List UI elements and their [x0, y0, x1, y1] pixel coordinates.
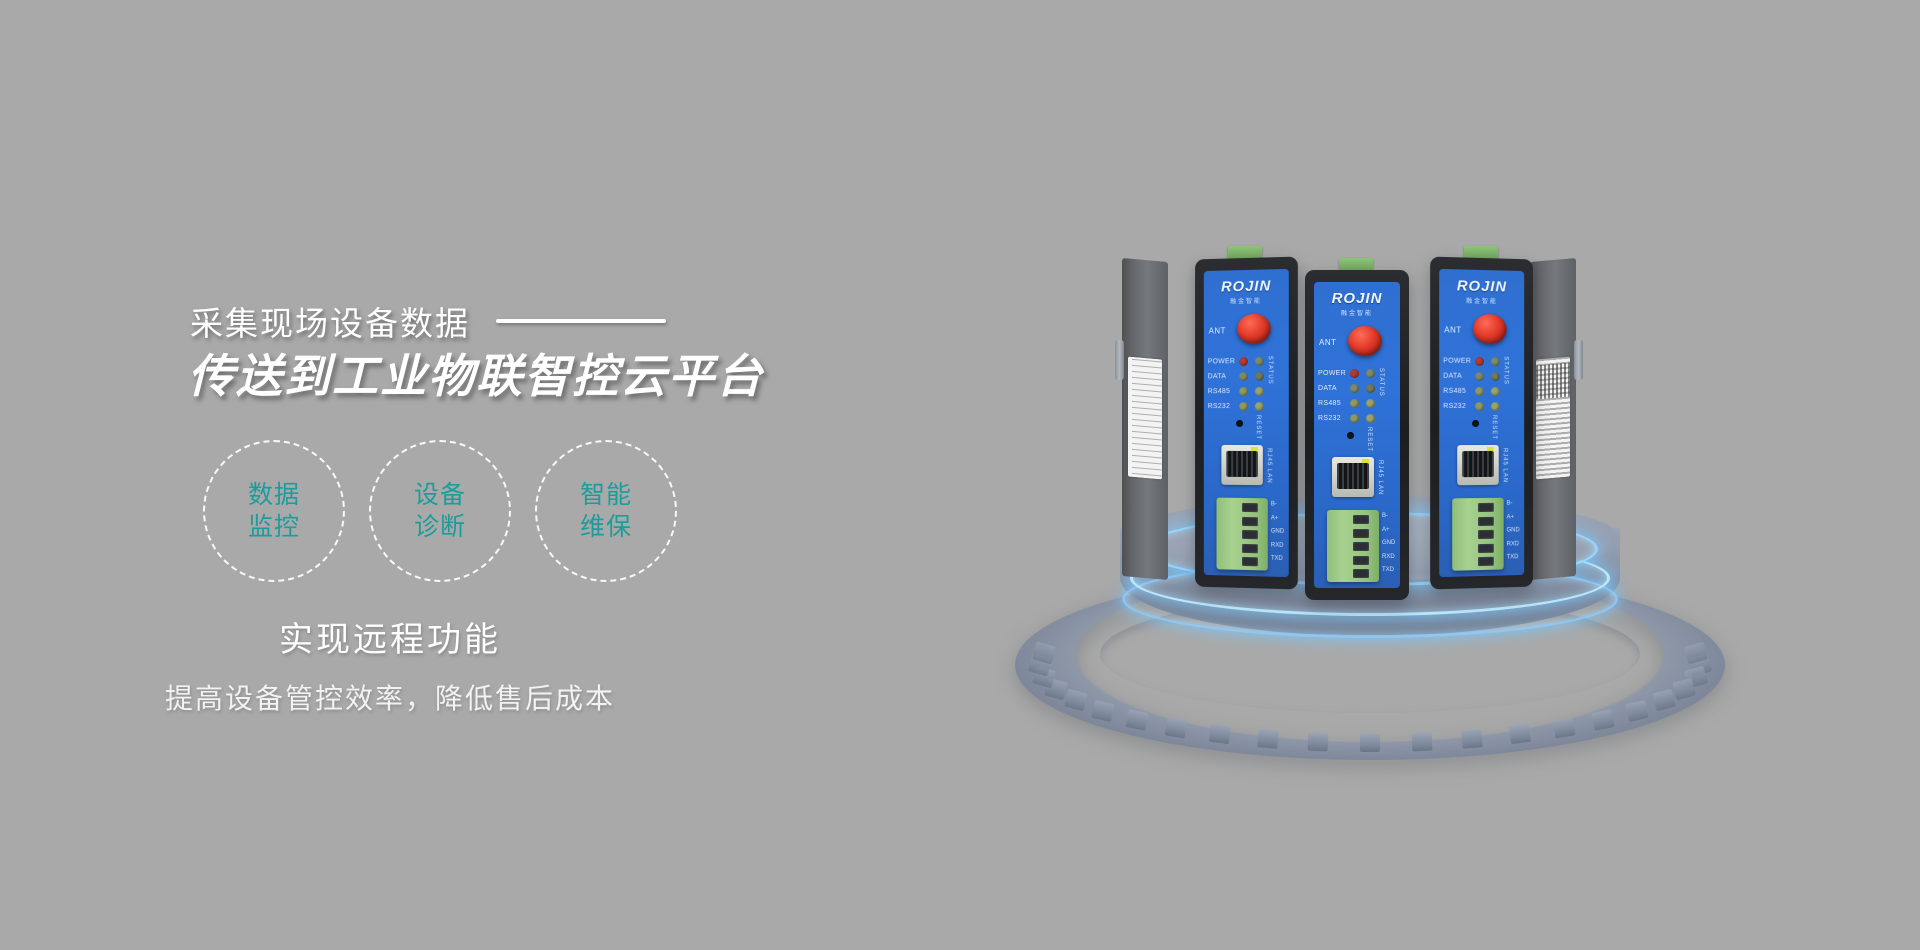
- antenna-label: ANT: [1209, 326, 1226, 335]
- led-row-rs232: RS232: [1318, 413, 1396, 426]
- feature-label-line2: 监控: [248, 511, 300, 543]
- terminal-pin-label: GND: [1271, 528, 1284, 534]
- din-rail-clip: [1115, 340, 1124, 380]
- screw-terminal-block[interactable]: [1217, 498, 1268, 571]
- terminal-pin-label: GND: [1507, 527, 1520, 533]
- screw-terminal-block[interactable]: [1327, 510, 1379, 582]
- gear-tooth: [1308, 733, 1329, 752]
- terminal-screw: [1353, 556, 1369, 565]
- brand-logo: ROJIN: [1204, 277, 1289, 296]
- reset-button[interactable]: [1347, 432, 1354, 439]
- led-indicator: [1350, 399, 1359, 408]
- terminal-pin-label: B-: [1507, 501, 1513, 507]
- led-indicator: [1350, 369, 1359, 378]
- gear-tooth: [1592, 709, 1615, 731]
- terminal-pin-label: B-: [1271, 501, 1277, 507]
- gear-tooth: [1064, 689, 1088, 711]
- led-indicator: [1366, 399, 1375, 408]
- led-row-rs232: RS232: [1208, 401, 1285, 414]
- gear-tooth: [1672, 678, 1696, 701]
- terminal-pin-label: TXD: [1382, 567, 1394, 573]
- kicker-row: 采集现场设备数据: [190, 297, 666, 345]
- led-indicator: [1366, 414, 1375, 423]
- led-label: POWER: [1208, 358, 1235, 365]
- gear-tooth: [1209, 724, 1231, 744]
- kicker-text: 采集现场设备数据: [190, 297, 470, 345]
- subheading: 实现远程功能: [0, 612, 780, 661]
- gear-tooth: [1091, 700, 1115, 722]
- feature-circle-data-monitoring[interactable]: 数据 监控: [203, 440, 345, 582]
- feature-label-line1: 设备: [414, 479, 466, 511]
- gear-tooth: [1125, 709, 1148, 731]
- gear-tooth: [1553, 718, 1576, 739]
- led-row-rs485: RS485: [1208, 386, 1285, 399]
- feature-label-line1: 数据: [248, 479, 300, 511]
- led-label: RS232: [1208, 403, 1230, 410]
- terminal-pin-label: B-: [1382, 513, 1388, 519]
- terminal-pin-label: RXD: [1382, 554, 1395, 560]
- feature-circle-list: 数据 监控 设备 诊断 智能 维保: [203, 440, 677, 582]
- antenna-connector[interactable]: [1237, 314, 1271, 345]
- device-spec-label: [1128, 357, 1162, 480]
- led-indicator: [1255, 387, 1264, 396]
- terminal-screw: [1242, 530, 1258, 539]
- gear-tooth: [1652, 689, 1676, 711]
- reset-button[interactable]: [1236, 420, 1243, 427]
- terminal-pin-label: TXD: [1507, 554, 1519, 560]
- led-label: DATA: [1208, 373, 1226, 380]
- gear-tooth: [1461, 729, 1482, 749]
- terminal-pin-label: A+: [1382, 527, 1390, 533]
- terminal-screw: [1353, 529, 1369, 538]
- device-group: ROJIN融金智能ANTSTATUSRESETRJ45 LANPOWERDATA…: [1130, 240, 1650, 600]
- terminal-screw: [1353, 542, 1369, 551]
- rj45-port[interactable]: [1332, 457, 1374, 497]
- led-row-power: POWER: [1318, 368, 1396, 381]
- brand-logo-cn: 融金智能: [1314, 308, 1400, 317]
- reset-label: RESET: [1255, 415, 1261, 440]
- led-label: RS232: [1318, 415, 1341, 422]
- lan-label: RJ45 LAN: [1502, 448, 1508, 483]
- led-indicator: [1366, 369, 1375, 378]
- terminal-pin-label: A+: [1507, 514, 1514, 520]
- led-indicator: [1255, 372, 1264, 381]
- terminal-pin-label: GND: [1382, 540, 1395, 546]
- terminal-screw: [1242, 543, 1258, 552]
- gear-tooth: [1257, 729, 1278, 749]
- feature-circle-smart-maintenance[interactable]: 智能 维保: [535, 440, 677, 582]
- lan-label: RJ45 LAN: [1266, 448, 1272, 484]
- feature-label-line2: 诊断: [414, 511, 466, 543]
- led-indicator: [1255, 357, 1264, 366]
- gear-tooth: [1411, 733, 1432, 752]
- led-indicator: [1239, 357, 1248, 366]
- feature-circle-device-diagnosis[interactable]: 设备 诊断: [369, 440, 511, 582]
- din-rail-clip: [1574, 340, 1583, 380]
- copy-block: 采集现场设备数据 传送到工业物联智控云平台 数据 监控 设备 诊断 智能 维保 …: [0, 0, 900, 950]
- led-row-rs485: RS485: [1318, 398, 1396, 411]
- lan-label: RJ45 LAN: [1377, 460, 1383, 495]
- antenna-connector[interactable]: [1348, 326, 1382, 356]
- supporting-text: 提高设备管控效率，降低售后成本: [0, 677, 780, 717]
- terminal-pin-label: RXD: [1507, 541, 1519, 547]
- rj45-port[interactable]: [1221, 445, 1262, 485]
- feature-label-line1: 智能: [580, 479, 632, 511]
- gear-tooth: [1509, 724, 1531, 744]
- led-label: RS485: [1318, 400, 1341, 407]
- led-indicator: [1350, 414, 1359, 423]
- led-label: RS485: [1208, 388, 1230, 395]
- led-label: DATA: [1318, 385, 1337, 392]
- led-indicator: [1239, 387, 1248, 396]
- device-front-frame: ROJIN融金智能ANTSTATUSRESETRJ45 LANPOWERDATA…: [1195, 257, 1298, 590]
- product-banner: 采集现场设备数据 传送到工业物联智控云平台 数据 监控 设备 诊断 智能 维保 …: [0, 0, 1920, 950]
- terminal-pin-label: TXD: [1271, 556, 1283, 562]
- led-indicator: [1239, 372, 1248, 381]
- reset-label: RESET: [1366, 427, 1372, 452]
- led-indicator: [1350, 384, 1359, 393]
- terminal-screw: [1242, 557, 1258, 566]
- led-indicator: [1366, 384, 1375, 393]
- led-row-data: DATA: [1208, 371, 1285, 385]
- gear-tooth: [1165, 718, 1188, 739]
- led-indicator: [1239, 402, 1248, 411]
- terminal-screw: [1242, 503, 1258, 512]
- gear-tooth: [1625, 700, 1649, 722]
- brand-logo-cn: 融金智能: [1204, 295, 1289, 306]
- gateway-device-2[interactable]: ROJIN融金智能ANTSTATUSRESETRJ45 LANPOWERDATA…: [1305, 266, 1495, 606]
- led-row-power: POWER: [1208, 356, 1285, 370]
- gateway-device-1[interactable]: ROJIN融金智能ANTSTATUSRESETRJ45 LANPOWERDATA…: [1122, 254, 1312, 594]
- device-faceplate: ROJIN融金智能ANTSTATUSRESETRJ45 LANPOWERDATA…: [1204, 269, 1289, 577]
- product-scene: ROJIN融金智能ANTSTATUSRESETRJ45 LANPOWERDATA…: [980, 240, 1760, 760]
- terminal-screw: [1353, 515, 1369, 524]
- device-front-frame: ROJIN融金智能ANTSTATUSRESETRJ45 LANPOWERDATA…: [1305, 270, 1409, 600]
- page-title: 传送到工业物联智控云平台: [188, 340, 764, 406]
- brand-logo: ROJIN: [1314, 290, 1400, 307]
- led-indicator: [1255, 402, 1264, 411]
- antenna-label: ANT: [1319, 338, 1337, 347]
- terminal-screw: [1353, 569, 1369, 578]
- gear-tooth: [1360, 734, 1380, 752]
- feature-label-line2: 维保: [580, 511, 632, 543]
- terminal-screw: [1242, 516, 1258, 525]
- device-qr-label: [1536, 357, 1570, 480]
- terminal-pin-label: A+: [1271, 515, 1279, 521]
- kicker-divider: [496, 319, 666, 323]
- terminal-pin-label: RXD: [1271, 542, 1284, 548]
- led-label: POWER: [1318, 370, 1346, 377]
- device-faceplate: ROJIN融金智能ANTSTATUSRESETRJ45 LANPOWERDATA…: [1314, 282, 1400, 588]
- led-row-data: DATA: [1318, 383, 1396, 396]
